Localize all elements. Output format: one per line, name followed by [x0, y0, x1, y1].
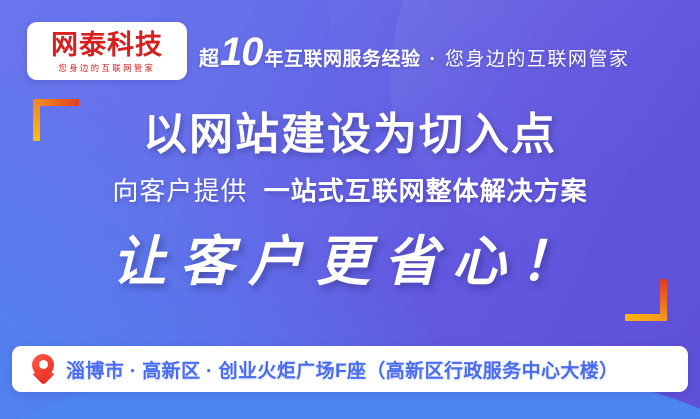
- address-bar: 淄博市 · 高新区 · 创业火炬广场F座（高新区行政服务中心大楼）: [12, 346, 688, 392]
- tagline-suffix: 年互联网服务经验: [265, 44, 421, 71]
- logo-slogan: 您身边的互联网管家: [59, 64, 156, 73]
- tagline-prefix: 超: [199, 42, 219, 71]
- headline-secondary: 向客户提供 一站式互联网整体解决方案: [0, 178, 700, 204]
- location-pin-icon: [32, 354, 54, 384]
- headline-secondary-light: 向客户提供: [112, 176, 247, 206]
- promo-banner: 网泰科技 您身边的互联网管家 超 10 年互联网服务经验 · 您身边的互联网管家…: [0, 0, 700, 419]
- company-logo: 网泰科技 您身边的互联网管家: [27, 22, 187, 80]
- headline-calligraphy: 让客户更省心！: [0, 228, 700, 296]
- address-text: 淄博市 · 高新区 · 创业火炬广场F座（高新区行政服务中心大楼）: [66, 356, 619, 383]
- headline-primary: 以网站建设为切入点: [0, 113, 700, 157]
- tagline-tail: 您身边的互联网管家: [445, 44, 630, 71]
- experience-tagline: 超 10 年互联网服务经验 · 您身边的互联网管家: [199, 36, 629, 71]
- bracket-horizontal-bar: [33, 99, 79, 106]
- tagline-years-number: 10: [220, 36, 263, 69]
- logo-company-name: 网泰科技: [51, 32, 163, 59]
- pin-center-dot: [39, 360, 48, 369]
- headline-secondary-bold: 一站式互联网整体解决方案: [264, 176, 588, 206]
- bracket-horizontal-bar: [625, 314, 667, 321]
- tagline-separator-dot: ·: [421, 49, 445, 71]
